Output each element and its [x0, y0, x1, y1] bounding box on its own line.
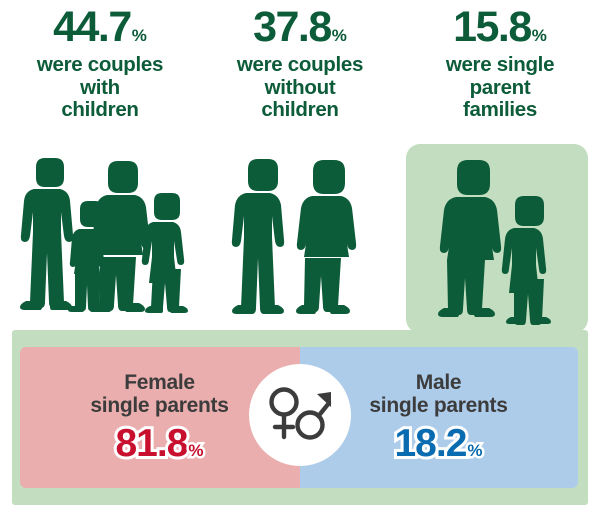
stat-caption: were couples without children — [237, 54, 363, 122]
child-figure — [502, 196, 551, 325]
stat-caption-line-1: were couples — [37, 54, 163, 77]
venus-symbol — [272, 390, 297, 438]
percent-sign: % — [132, 27, 147, 44]
percent-sign: % — [332, 27, 347, 44]
female-label-line-1: Female — [90, 372, 228, 395]
female-label: Female single parents — [90, 372, 228, 417]
family-two-adults-two-children-icon — [0, 142, 200, 332]
stat-caption: were single parent families — [446, 54, 554, 122]
stat-caption-line-3: children — [37, 99, 163, 122]
infographic-root: 44.7 % were couples with children 37.8 %… — [0, 0, 600, 511]
stat-value: 44.7 — [53, 6, 131, 49]
male-label-line-1: Male — [369, 372, 507, 395]
stat-single-parent-families: 15.8 % were single parent families — [400, 0, 600, 140]
male-label-line-2: single parents — [369, 395, 507, 418]
stat-couples-without-children: 37.8 % were couples without children — [200, 0, 400, 140]
stat-value-line: 44.7 % — [53, 6, 147, 49]
stat-caption: were couples with children — [37, 54, 163, 122]
female-percent-sign: % — [188, 442, 203, 459]
mars-symbol — [298, 392, 332, 438]
percent-sign: % — [532, 27, 547, 44]
stat-caption-line-1: were single — [446, 54, 554, 77]
pictogram-row — [0, 142, 600, 332]
female-value: 81.8 — [115, 424, 187, 463]
statistics-row: 44.7 % were couples with children 37.8 %… — [0, 0, 600, 140]
adult-man-figure — [20, 158, 73, 310]
adult-parent-figure — [438, 160, 501, 317]
stat-caption-line-2: without — [237, 77, 363, 100]
stat-caption-line-1: were couples — [237, 54, 363, 77]
stat-value: 37.8 — [253, 6, 331, 49]
female-label-line-2: single parents — [90, 395, 228, 418]
adult-man-figure — [232, 159, 284, 314]
couple-two-adults-icon — [200, 142, 400, 332]
adult-woman-figure — [296, 160, 356, 314]
stat-caption-line-3: families — [446, 99, 554, 122]
stat-caption-line-3: children — [237, 99, 363, 122]
single-parent-one-adult-one-child-icon — [400, 142, 600, 332]
stat-couples-with-children: 44.7 % were couples with children — [0, 0, 200, 140]
stat-value: 15.8 — [453, 6, 531, 49]
male-label: Male single parents — [369, 372, 507, 417]
venus-mars-gender-symbols-icon — [249, 364, 351, 466]
boy-figure — [141, 193, 187, 313]
stat-value-line: 37.8 % — [253, 6, 347, 49]
male-value: 18.2 — [394, 424, 466, 463]
stat-value-line: 15.8 % — [453, 6, 547, 49]
male-percent-sign: % — [467, 442, 482, 459]
adult-woman-figure — [91, 161, 150, 312]
stat-caption-line-2: parent — [446, 77, 554, 100]
female-value-line: 81.8 % — [115, 424, 203, 463]
stat-caption-line-2: with — [37, 77, 163, 100]
male-value-line: 18.2 % — [394, 424, 482, 463]
